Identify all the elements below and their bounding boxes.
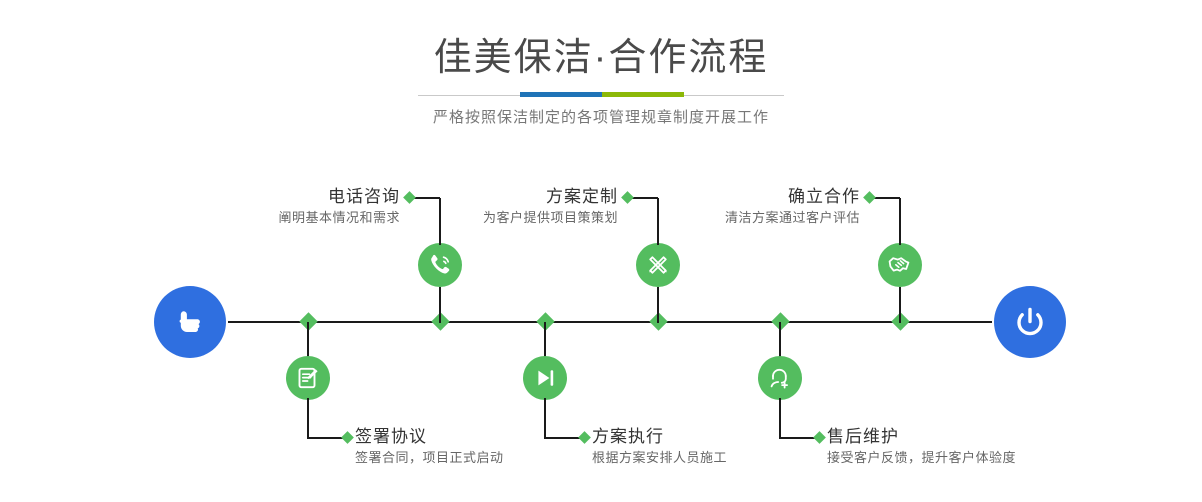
step-node-2 <box>286 356 330 400</box>
connector-node-step-5 <box>899 287 901 323</box>
step-desc-3: 为客户提供项目策策划 <box>373 208 618 228</box>
step-label-6: 售后维护 接受客户反馈，提升客户体验度 <box>827 426 1016 468</box>
connector-label-step-5 <box>899 198 901 245</box>
label-tip-step-2 <box>341 431 354 444</box>
handshake-icon <box>887 252 913 278</box>
power-icon <box>1010 302 1050 342</box>
step-title-2: 签署协议 <box>355 426 504 448</box>
step-desc-4: 根据方案安排人员施工 <box>592 448 727 468</box>
customer-service-add-icon <box>767 365 793 391</box>
connector-label-h-step-4 <box>544 437 582 439</box>
step-desc-6: 接受客户反馈，提升客户体验度 <box>827 448 1016 468</box>
step-node-3 <box>636 243 680 287</box>
phone-call-icon <box>427 252 453 278</box>
connector-label-step-6 <box>779 398 781 438</box>
step-node-1 <box>418 243 462 287</box>
step-desc-1: 阐明基本情况和需求 <box>155 208 400 228</box>
step-label-3: 方案定制 为客户提供项目策策划 <box>373 186 618 228</box>
label-tip-step-6 <box>813 431 826 444</box>
step-label-4: 方案执行 根据方案安排人员施工 <box>592 426 727 468</box>
connector-label-step-4 <box>544 398 546 438</box>
step-desc-5: 清洁方案通过客户评估 <box>615 208 860 228</box>
step-label-2: 签署协议 签署合同，项目正式启动 <box>355 426 504 468</box>
connector-node-step-3 <box>657 287 659 323</box>
step-node-6 <box>758 356 802 400</box>
step-label-5: 确立合作 清洁方案通过客户评估 <box>615 186 860 228</box>
step-label-1: 电话咨询 阐明基本情况和需求 <box>155 186 400 228</box>
step-node-4 <box>523 356 567 400</box>
step-desc-2: 签署合同，项目正式启动 <box>355 448 504 468</box>
step-title-1: 电话咨询 <box>155 186 400 208</box>
timeline-axis <box>228 321 992 323</box>
pointing-hand-icon <box>170 302 210 342</box>
process-flow-infographic: 佳美保洁·合作流程 严格按照保洁制定的各项管理规章制度开展工作 <box>0 0 1202 502</box>
connector-node-step-2 <box>307 322 309 358</box>
play-forward-icon <box>532 365 558 391</box>
pencil-ruler-icon <box>645 252 671 278</box>
flow-diagram: 电话咨询 阐明基本情况和需求 签署协议 签署合同，项目正式启动 <box>0 0 1202 502</box>
label-tip-step-5 <box>863 191 876 204</box>
connector-label-step-2 <box>307 398 309 438</box>
flow-start-marker <box>154 286 226 358</box>
connector-node-step-4 <box>544 322 546 358</box>
flow-end-marker <box>994 286 1066 358</box>
step-title-6: 售后维护 <box>827 426 1016 448</box>
step-node-5 <box>878 243 922 287</box>
connector-node-step-6 <box>779 322 781 358</box>
step-title-3: 方案定制 <box>373 186 618 208</box>
connector-node-step-1 <box>439 287 441 323</box>
connector-label-h-step-6 <box>779 437 817 439</box>
connector-label-h-step-2 <box>307 437 345 439</box>
label-tip-step-4 <box>578 431 591 444</box>
step-title-4: 方案执行 <box>592 426 727 448</box>
step-title-5: 确立合作 <box>615 186 860 208</box>
document-edit-icon <box>295 365 321 391</box>
